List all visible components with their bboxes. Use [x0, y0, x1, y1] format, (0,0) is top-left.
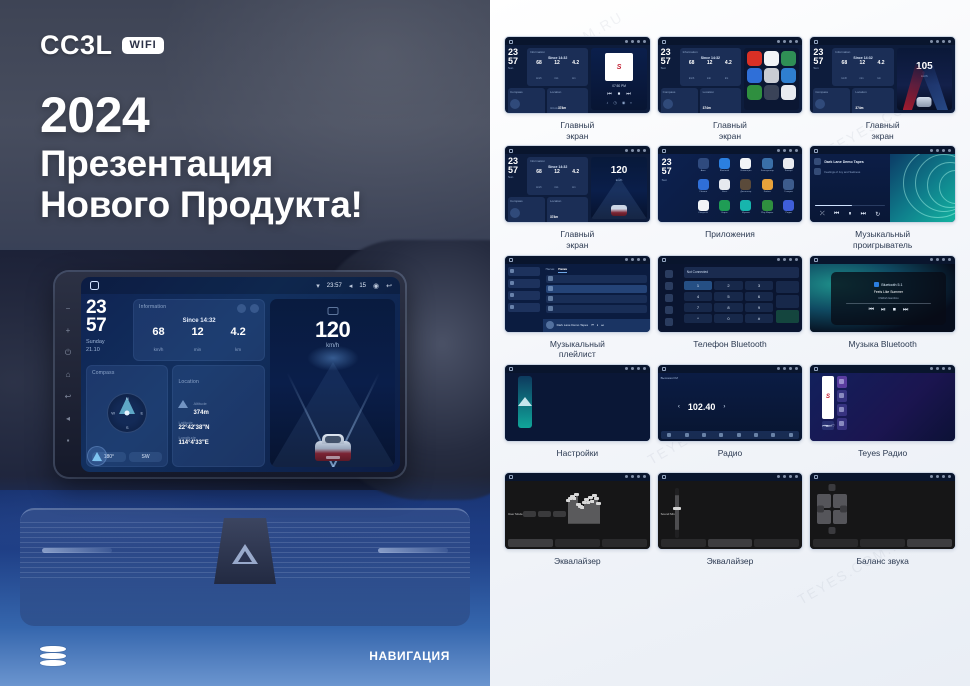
key: 1	[684, 281, 712, 290]
tab-folders: Папки	[558, 267, 567, 273]
head-unit-device[interactable]: − + ⏻ ⌂ ↩ ◂ ▪ ▾ 23:57 ◂ 15 ◉ ↩	[55, 272, 405, 477]
compass-rose	[670, 113, 688, 115]
player-info: Dark Lane Demo Tapes Feelings of Joy and…	[810, 154, 890, 222]
bt-badge: Bluetooth 5.1	[874, 282, 902, 287]
teyes-body: S ⏮ ⏹ ⏭ ♡	[822, 376, 847, 430]
widgets-column: 2357Sun Information Since 14:32 68km/h 1…	[508, 157, 588, 219]
altitude-label: Altitude	[193, 401, 206, 406]
gallery-item[interactable]: User Mode	[504, 472, 651, 576]
app-item: Диспетчер	[736, 179, 755, 198]
compass-rose	[517, 113, 535, 115]
hero-footer: НАВИГАЦИЯ	[0, 626, 490, 686]
album-logo-icon: S	[617, 64, 622, 71]
menu-icon[interactable]: ▪	[63, 435, 74, 446]
expand-icon[interactable]	[250, 304, 259, 313]
gallery-item[interactable]: 2357Sun Information Since 14:32 68km/h 1…	[504, 145, 651, 250]
app-icon	[783, 200, 794, 211]
information-title: Information	[530, 50, 585, 54]
app-icon	[762, 179, 773, 190]
station-thumb	[839, 379, 844, 384]
status-bar	[810, 146, 955, 154]
gallery-item[interactable]: Bluetooth 5.1 Feels Like Summer Childish…	[809, 255, 956, 360]
gallery-item[interactable]: 2357Sun Information Since 14:32 68km/h 1…	[504, 36, 651, 141]
app-item: Часы	[715, 179, 734, 198]
app-icon	[719, 179, 730, 190]
stat-unit: km	[572, 77, 575, 80]
home-icon	[662, 149, 666, 153]
home-icon	[814, 258, 818, 262]
wifi-icon	[625, 475, 628, 478]
compass-dial: N E S W	[92, 376, 162, 450]
screenshot-thumb[interactable]: 2357Sun Information Since 14:32 68km/h 1…	[504, 145, 651, 223]
stat-value: 68	[689, 61, 695, 66]
compass-dir-s: S	[126, 425, 129, 430]
display-text: Not Connected	[687, 270, 708, 274]
call-icon	[776, 310, 799, 323]
item-caption: Эквалайзер	[707, 556, 754, 576]
visualizer	[890, 154, 955, 222]
compass-dir-w: W	[111, 411, 115, 416]
stat-unit: min	[554, 186, 558, 189]
home-icon	[509, 367, 513, 371]
app-item: Навигация	[736, 158, 755, 177]
track-thumb	[548, 296, 553, 301]
stat-item: 68km/h	[689, 61, 695, 84]
media-time: 07:50 PM	[612, 84, 626, 88]
clock-day: Sun	[662, 178, 686, 182]
wifi-icon	[625, 149, 628, 152]
sidebar-item-tracks	[508, 267, 540, 276]
screenshot-thumb[interactable]: 2357Sun Information Since 14:32 68km/h 1…	[504, 36, 651, 114]
gallery-item[interactable]: S ⏮ ⏹ ⏭ ♡	[809, 364, 956, 468]
screenshot-thumb[interactable]: Bluetooth 5.1 Feels Like Summer Childish…	[809, 255, 956, 333]
time-dot	[783, 367, 786, 370]
bt-version-label: Bluetooth 5.1	[881, 283, 902, 287]
station-thumb	[839, 393, 844, 398]
screenshot-thumb[interactable]: 2357Sun Information Since 14:32 68km/h 1…	[809, 36, 956, 114]
next-icon: ⏭	[601, 323, 604, 327]
back-icon[interactable]: ↩	[386, 282, 392, 290]
power-icon[interactable]: ⏻	[63, 347, 74, 358]
fader-down-button	[829, 527, 836, 534]
widgets-column: 2357Sun Information Since 14:32 68km/h 1…	[508, 48, 588, 110]
headline-line2: Нового Продукта!	[40, 184, 363, 225]
layers-icon	[40, 646, 66, 666]
head-unit-side-buttons[interactable]: − + ⏻ ⌂ ↩ ◂ ▪	[55, 277, 81, 472]
app-label: Bluetooth	[720, 170, 729, 172]
screenshot-thumb[interactable]: User Mode	[504, 472, 651, 550]
app-icon	[740, 158, 751, 169]
radio-toolbar	[661, 431, 800, 439]
stat-item: 4.2km	[878, 61, 885, 84]
album-art	[546, 321, 554, 329]
mountain-icon	[178, 400, 189, 408]
vol-down-icon[interactable]: −	[63, 303, 74, 314]
eq-band	[598, 502, 600, 524]
mic-icon[interactable]: ◉	[373, 282, 379, 290]
dial-actions	[776, 281, 799, 323]
home-screen: 2357Sun Information Since 14:32 68km/h 1…	[658, 45, 803, 113]
home-screen: 2357Sun Information Since 14:32 68km/h 1…	[505, 154, 650, 222]
information-widget: Information Since 14:32 68km/h 12min 4.2…	[680, 48, 741, 86]
volume-icon	[942, 40, 945, 43]
vol-up-icon[interactable]: +	[63, 325, 74, 336]
wifi-icon	[930, 475, 933, 478]
stat-item: 4.2km	[725, 61, 732, 84]
screenshot-thumb[interactable]: 2357Sun Information Since 14:32 68km/h 1…	[657, 36, 804, 114]
home-icon	[814, 367, 818, 371]
dial-wrap: 1 2 3 4 5 6 7 8 9 * 0 #	[684, 281, 800, 323]
key: 4	[684, 292, 712, 301]
refresh-icon[interactable]	[237, 304, 246, 313]
headline-year: 2024	[40, 88, 363, 143]
screenshot-thumb[interactable]: Not Connected 1 2 3 4 5 6 7 8	[657, 255, 804, 333]
home-icon	[662, 367, 666, 371]
app-item: Музыка	[736, 200, 755, 219]
stop-icon: ⏹	[893, 307, 896, 314]
app-item: Chrome	[693, 179, 712, 198]
screenshot-thumb[interactable]: Высокая FM ‹ 102.40 ›	[657, 364, 804, 442]
status-bar	[810, 37, 955, 45]
stat-unit: km/h	[536, 77, 541, 80]
app-label: Карты	[721, 212, 727, 214]
altitude-label: Altitude	[550, 107, 558, 110]
status-bar	[505, 37, 650, 45]
car-plate	[326, 456, 340, 459]
altitude-row: Altitude374m	[550, 96, 585, 114]
mute-icon[interactable]: ◂	[63, 413, 74, 424]
st-icon	[754, 433, 758, 437]
home-icon	[814, 40, 818, 44]
item-caption: Главный экран	[713, 120, 747, 141]
track-row	[546, 285, 647, 293]
key: 5	[714, 292, 742, 301]
playlist-main: Песни Папки Dark Lane Demo Tapes ⏮ ⏸	[543, 264, 650, 332]
item-caption: Главный экран	[866, 120, 900, 141]
wifi-icon: ▾	[316, 282, 320, 290]
clock-day: Sun	[661, 67, 678, 70]
compass-rose: N E S W	[107, 393, 147, 433]
tab-eq	[661, 539, 706, 547]
app-icon	[719, 200, 730, 211]
app-label: Kinopoisk	[698, 212, 708, 214]
app-icon-grid	[781, 85, 796, 100]
tab-balance	[907, 539, 952, 547]
stat-unit: km/h	[842, 77, 847, 80]
loc-icon	[737, 433, 741, 437]
home-icon[interactable]: ⌂	[63, 369, 74, 380]
apps-screen: 2357 Sun Авто Bluetooth Навигация Кальку…	[658, 154, 803, 222]
home-icon	[509, 40, 513, 44]
prev-station-icon: ‹	[678, 404, 680, 410]
clock-widget[interactable]: 23 57 Sunday 21.10	[86, 299, 128, 361]
wifi-icon	[930, 367, 933, 370]
mic-icon	[795, 258, 798, 261]
compass-location-row: Compass Location 374m 22°42'38"N 114°4'3…	[508, 197, 588, 223]
bt-icon: ◉	[622, 100, 626, 105]
compass-location-row: Compass Location Altitude374m Lat22°42'3…	[508, 88, 588, 114]
wifi-icon	[930, 258, 933, 261]
car-3d-model	[611, 205, 627, 216]
compass-hub	[125, 411, 130, 416]
gallery-item[interactable]: 2357Sun Information Since 14:32 68km/h 1…	[657, 36, 804, 141]
air-vent-panel	[20, 508, 470, 626]
tab-eq	[813, 539, 858, 547]
wifi-icon	[625, 258, 628, 261]
road-speed-value: 120	[270, 319, 395, 341]
track-title: Dark Lane Demo Tapes	[824, 160, 863, 164]
longitude-value: 114°4'33"E	[178, 440, 259, 446]
preset-buttons	[523, 511, 566, 517]
album-logo-icon: S	[826, 394, 830, 400]
app-label: Диспетчер	[741, 191, 752, 193]
stat-item: 12min	[554, 170, 560, 193]
home-icon	[814, 475, 818, 479]
altitude-value: 374m	[550, 215, 558, 219]
stop-icon: ⏹	[618, 91, 621, 97]
information-title: Information	[530, 159, 585, 163]
stat-item: 68km/h	[842, 61, 848, 84]
app-icon	[740, 200, 751, 211]
stat-unit: km	[235, 347, 241, 352]
compass-dir-e: E	[141, 411, 144, 416]
play-icon	[814, 158, 821, 165]
information-actions[interactable]	[237, 304, 259, 313]
headline: 2024 Презентация Нового Продукта!	[40, 88, 363, 226]
playlist-sidebar	[505, 264, 543, 332]
altitude-row: Altitude 374m	[178, 392, 259, 416]
gallery-panel: TEYES.COM.RU TEYES.COM.RU TEYES.COM.RU T…	[490, 0, 970, 686]
road-speed-value: 120	[591, 166, 646, 176]
player-controls: ⤫ ⏮ ⏸ ⏭ ↻	[815, 211, 885, 218]
bluetooth-music-screen: Bluetooth 5.1 Feels Like Summer Childish…	[810, 264, 955, 332]
clock-info-row: 2357Sun Information Since 14:32 68km/h 1…	[661, 48, 741, 86]
band-icon	[667, 433, 671, 437]
track-row: Dark Lane Demo Tapes	[814, 158, 886, 165]
screenshot-thumb[interactable]: Dark Lane Demo Tapes Feelings of Joy and…	[809, 145, 956, 223]
gallery-item[interactable]: 2357Sun Information Since 14:32 68km/h 1…	[809, 36, 956, 141]
screenshot-thumb[interactable]	[809, 472, 956, 550]
gallery-item[interactable]: Dark Lane Demo Tapes Feelings of Joy and…	[809, 145, 956, 250]
wifi-icon	[518, 397, 532, 406]
stat-item: 4.2km	[572, 61, 579, 84]
app-label: Галерея	[784, 191, 792, 193]
compass-rose	[823, 113, 841, 115]
status-bar	[810, 256, 955, 264]
information-widget: Information Since 14:32 68km/h 12min 4.2…	[527, 48, 588, 86]
screenshot-thumb[interactable]: S ⏮ ⏹ ⏭ ♡	[809, 364, 956, 442]
balance-body	[813, 484, 847, 534]
status-bar	[810, 365, 955, 373]
mic-icon	[948, 40, 951, 43]
playlist-screen: Песни Папки Dark Lane Demo Tapes ⏮ ⏸	[505, 264, 650, 332]
bluetooth-icon	[874, 282, 879, 287]
stat-value: 68	[152, 327, 164, 338]
wifi-icon	[777, 40, 780, 43]
time-dot	[631, 40, 634, 43]
gallery-item[interactable]: Sound Mix	[657, 472, 804, 576]
app-icon	[698, 200, 709, 211]
navigation-fab-button	[510, 99, 520, 109]
clock-widget: 2357Sun	[508, 157, 525, 195]
stat-unit: km	[725, 77, 728, 80]
app-dock-widget	[744, 48, 799, 110]
latitude-value: 22°42'38"N	[178, 425, 259, 431]
folder-icon	[510, 305, 514, 309]
home-icon	[509, 149, 513, 153]
screenshot-thumb[interactable]: 2357 Sun Авто Bluetooth Навигация Кальку…	[657, 145, 804, 223]
track-artist: Childish Gambino	[878, 297, 898, 300]
logo-model-text: CC3L	[40, 32, 113, 59]
next-icon: ⏭	[626, 91, 631, 97]
equalizer-body	[675, 488, 687, 538]
stat-unit: min	[194, 347, 201, 352]
app-item: Камера	[779, 158, 798, 177]
location-title: Location	[550, 90, 585, 94]
stat-unit: min	[554, 77, 558, 80]
status-bar	[658, 146, 803, 154]
gallery-item[interactable]: Баланс звука	[809, 472, 956, 576]
app-icon	[762, 200, 773, 211]
information-title: Information	[139, 304, 166, 310]
track-artist: Feelings of Joy and Sadness	[824, 170, 860, 174]
card-wifi	[518, 376, 532, 428]
next-station-icon: ›	[723, 404, 725, 410]
screenshot-thumb[interactable]: Песни Папки Dark Lane Demo Tapes ⏮ ⏸	[504, 255, 651, 333]
pause-icon: ⏸	[848, 211, 851, 218]
time-dot	[783, 258, 786, 261]
status-bar	[658, 256, 803, 264]
stat-item: 68 km/h	[152, 327, 164, 356]
screenshot-thumb[interactable]: Sound Mix	[657, 472, 804, 550]
now-playing-title: Dark Lane Demo Tapes	[557, 323, 588, 327]
volume-icon	[789, 40, 792, 43]
track-row	[546, 275, 647, 283]
information-title: Information	[683, 50, 738, 54]
location-widget: Location Altitude374m Lat22°42'38"N Lon1…	[547, 88, 588, 114]
home-icon[interactable]	[90, 281, 99, 290]
radio-screen: Высокая FM ‹ 102.40 ›	[658, 373, 803, 441]
altitude-value: 374m	[193, 410, 208, 416]
next-icon: ⏭	[903, 307, 908, 314]
media-card-widget: S 07:50 PM ⏮⏹⏭ ♪◷◉▪	[591, 48, 646, 110]
favorite-icon: ♡	[832, 423, 836, 428]
item-caption: Радио	[718, 448, 743, 468]
number-display: Not Connected	[684, 267, 800, 278]
stat-unit: km/h	[689, 77, 694, 80]
gallery-item[interactable]: Песни Папки Dark Lane Demo Tapes ⏮ ⏸	[504, 255, 651, 360]
equalizer-tabs	[661, 539, 800, 547]
stat-value: 4.2	[572, 170, 579, 175]
time-dot	[783, 475, 786, 478]
latitude-row: Latitude 22°42'38"N	[178, 420, 259, 431]
radio-band-label: Высокая FM	[661, 376, 678, 438]
time-dot	[631, 367, 634, 370]
app-item: Play Маркет	[758, 200, 777, 219]
time-dot	[936, 367, 939, 370]
information-widget[interactable]: Information Since 14:32 68	[133, 299, 265, 361]
app-item: Радио	[779, 200, 798, 219]
road-widget: 120 km/h	[591, 157, 646, 219]
track-thumb	[548, 276, 553, 281]
volume-icon	[637, 149, 640, 152]
head-unit-screen[interactable]: ▾ 23:57 ◂ 15 ◉ ↩ 23 57 Sunday	[81, 277, 400, 472]
stat-value: 4.2	[572, 61, 579, 66]
status-bar	[505, 473, 650, 481]
hero-panel: TEYES.COM.RU TEYES.COM.RU CC3L WIFI 2024…	[0, 0, 490, 686]
album-art: S	[822, 376, 833, 419]
radio-frequency-row: ‹ 102.40 ›	[678, 377, 726, 438]
volume-icon	[942, 258, 945, 261]
tab-more	[754, 539, 799, 547]
app-icon	[762, 158, 773, 169]
screenshot-thumb[interactable]	[504, 364, 651, 442]
stat-item: 12min	[707, 61, 713, 84]
gallery-item[interactable]: 2357 Sun Авто Bluetooth Навигация Кальку…	[657, 145, 804, 250]
location-widget: Location 374m 22°42'38"N 114°4'33"E	[700, 88, 741, 114]
prev-icon: ⏮	[591, 323, 594, 327]
headline-line1: Презентация	[40, 143, 363, 184]
app-grid: Авто Bluetooth Навигация Калькулятор Кам…	[689, 154, 802, 222]
item-caption: Приложения	[705, 229, 755, 249]
backspace-icon	[776, 295, 799, 308]
stat-unit: km	[572, 186, 575, 189]
stat-value: 4.2	[230, 327, 245, 338]
media-controls: ⏮⏹⏭	[607, 91, 631, 97]
brand-logo: CC3L WIFI	[40, 32, 164, 59]
information-title: Information	[835, 50, 890, 54]
stat-item: 12 min	[191, 327, 203, 356]
clock-day: Sunday	[86, 339, 128, 346]
hazard-button[interactable]	[214, 518, 276, 584]
teyes-now-playing: S ⏮ ⏹ ⏭ ♡	[822, 376, 833, 430]
app-icon-play-store	[747, 85, 762, 100]
location-widget[interactable]: Location Altitude 374m Latitude	[172, 365, 265, 467]
altitude-row: 374m	[550, 205, 585, 223]
stat-value: 4.2	[878, 61, 885, 66]
home-icon	[662, 258, 666, 262]
track-title: Feels Like Summer	[874, 290, 903, 294]
track-thumb	[548, 306, 553, 311]
stat-item: 68km/h	[536, 61, 542, 84]
equalizer-header: User Mode	[508, 484, 566, 544]
app-item: Карты	[715, 200, 734, 219]
app-label: Калькулятор	[761, 170, 774, 172]
balance-left-button	[817, 505, 824, 512]
sound-balance-screen	[810, 481, 955, 549]
clock-widget: 2357Sun	[813, 48, 830, 86]
stat-unit: km/h	[536, 186, 541, 189]
clock-icon: ◷	[613, 100, 617, 105]
app-icon-chrome	[747, 68, 762, 83]
back-icon[interactable]: ↩	[63, 391, 74, 402]
preset-label: Sound Mix	[661, 512, 675, 516]
stat-value: 68	[536, 170, 542, 175]
screenshot-grid: 2357Sun Information Since 14:32 68km/h 1…	[504, 36, 956, 576]
media-extra-controls: ♪◷◉▪	[606, 100, 631, 105]
time-dot	[631, 258, 634, 261]
gallery-item[interactable]: Настройки	[504, 364, 651, 468]
gallery-item[interactable]: Not Connected 1 2 3 4 5 6 7 8	[657, 255, 804, 360]
road-widget[interactable]: 120 km/h	[270, 299, 395, 467]
volume-icon	[637, 475, 640, 478]
navigation-fab-button[interactable]	[87, 446, 107, 466]
prev-icon: ⏮	[869, 307, 874, 314]
gallery-item[interactable]: Высокая FM ‹ 102.40 ›	[657, 364, 804, 468]
fader-up-button	[829, 484, 836, 491]
location-title: Location	[855, 90, 890, 94]
play-pause-icon: ⏯	[881, 307, 886, 314]
